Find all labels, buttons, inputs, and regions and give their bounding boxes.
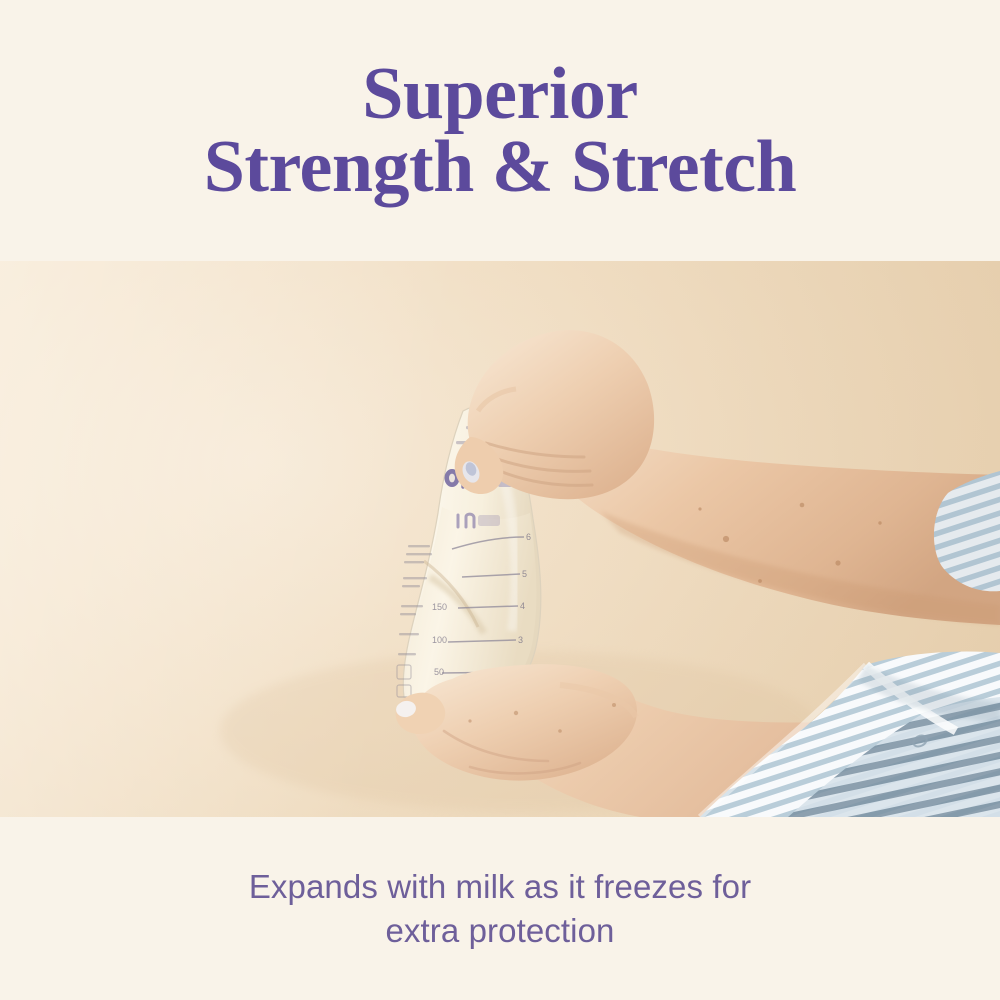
caption-line-2: extra protection <box>249 909 751 953</box>
headline-band: Superior Strength & Stretch <box>0 0 1000 261</box>
svg-text:150: 150 <box>432 602 447 612</box>
caption-line-1: Expands with milk as it freezes for <box>249 865 751 909</box>
promo-card: Superior Strength & Stretch <box>0 0 1000 1000</box>
caption-text: Expands with milk as it freezes for extr… <box>209 865 791 952</box>
svg-text:6: 6 <box>526 532 531 542</box>
svg-text:100: 100 <box>432 635 447 645</box>
product-photo: 6 5 4 3 2 150 100 50 <box>0 261 1000 817</box>
photo-illustration: 6 5 4 3 2 150 100 50 <box>0 261 1000 817</box>
headline-line-1: Superior <box>204 58 797 131</box>
caption-band: Expands with milk as it freezes for extr… <box>0 817 1000 1000</box>
svg-text:50: 50 <box>434 667 444 677</box>
svg-text:5: 5 <box>522 569 527 579</box>
headline-line-2: Strength & Stretch <box>204 131 797 204</box>
svg-text:4: 4 <box>520 601 525 611</box>
page-title: Superior Strength & Stretch <box>184 58 817 203</box>
svg-text:3: 3 <box>518 635 523 645</box>
